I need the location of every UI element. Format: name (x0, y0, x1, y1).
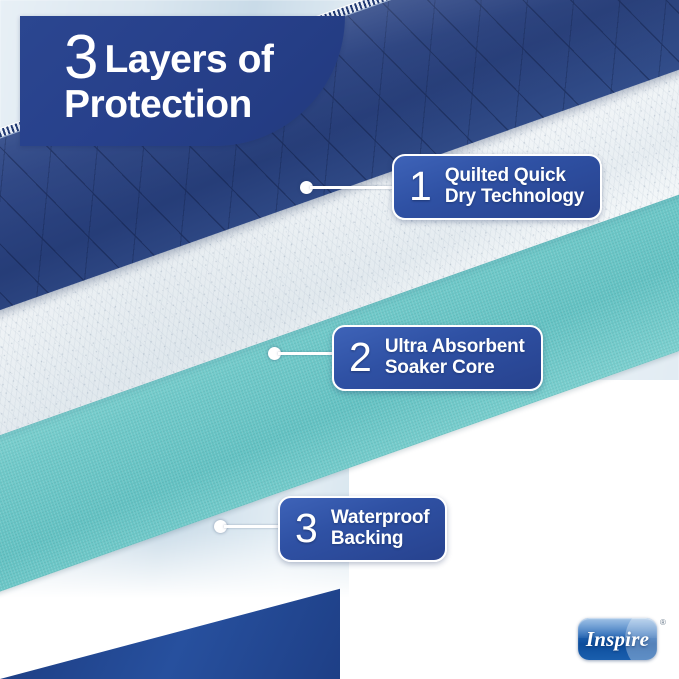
brand-name: Inspire (578, 618, 657, 660)
title-layer-count: 3 (64, 23, 98, 92)
title-line-one-text: Layers of (104, 38, 273, 81)
callout-ultra-absorbent-soaker-core: 2 Ultra Absorbent Soaker Core (332, 325, 543, 391)
callout-number-2: 2 (349, 337, 372, 378)
title-line-one: 3Layers of (64, 30, 273, 86)
page-title: 3Layers of Protection (64, 30, 273, 124)
callout-connector-line-1 (310, 186, 396, 189)
callout-connector-line-2 (278, 352, 336, 355)
callout-number-1: 1 (409, 166, 432, 207)
callout-number-3: 3 (295, 508, 318, 549)
callout-connector-line-3 (224, 525, 282, 528)
callout-waterproof-backing: 3 Waterproof Backing (278, 496, 447, 562)
callout-quilted-quick-dry-technology: 1 Quilted Quick Dry Technology (392, 154, 602, 220)
callout-label-2: Ultra Absorbent Soaker Core (385, 336, 525, 379)
title-line-two: Protection (64, 86, 273, 124)
registered-trademark-symbol: ® (660, 618, 666, 627)
callout-label-1: Quilted Quick Dry Technology (445, 165, 584, 208)
callout-label-3: Waterproof Backing (331, 507, 430, 550)
product-infographic: 3Layers of Protection 1 Quilted Quick Dr… (0, 0, 679, 679)
brand-logo: Inspire ® (578, 618, 657, 660)
